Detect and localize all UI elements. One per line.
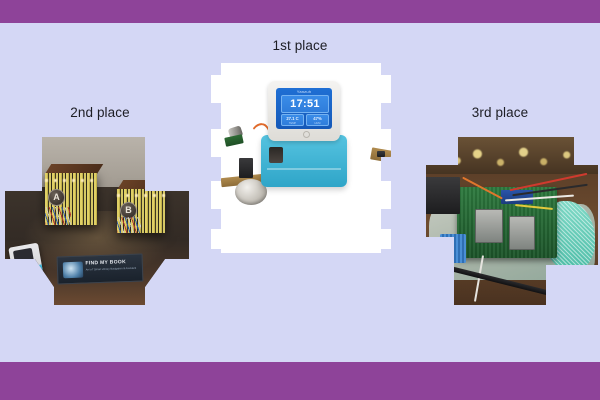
first-place-photo: Yanzuh 17:51 27.1 C TEMP 47% HUM (211, 63, 391, 253)
bottom-purple-band (0, 362, 600, 400)
second-place-label: 2nd place (0, 105, 200, 120)
clock-base (261, 135, 347, 187)
second-place-photo: A B (5, 137, 189, 305)
first-place-label: 1st place (200, 38, 400, 53)
clock-temperature-value: 27.1 C (282, 116, 303, 121)
clock-temperature-tile: 27.1 C TEMP (281, 114, 304, 126)
clock-humidity-tile: 47% HUM (306, 114, 329, 126)
clock-display: Yanzuh 17:51 27.1 C TEMP 47% HUM (276, 88, 332, 129)
iot-sensor-board-illustration (426, 137, 598, 305)
clock-temperature-caption: TEMP (282, 122, 303, 125)
top-purple-band (0, 0, 600, 23)
antenna-connector (550, 286, 571, 296)
display-module (426, 177, 460, 214)
clock-power-button-icon (303, 131, 310, 138)
clock-display-header: Yanzuh (276, 89, 332, 94)
dht-temperature-sensor (440, 234, 466, 263)
shelf-model-b: B (117, 189, 165, 233)
sensor-board-small (224, 134, 243, 147)
shelf-b-led-strip (117, 194, 165, 197)
entry-second-place: 2nd place A (0, 105, 200, 305)
esp-module-right (509, 216, 535, 250)
clock-base-slot (269, 147, 283, 163)
entry-third-place: 3rd place (400, 105, 600, 305)
sensor-bracket (239, 158, 253, 178)
project-sign-title: FIND MY BOOK (85, 259, 126, 266)
clock-base-seam (267, 168, 341, 170)
shelf-model-a: A (45, 173, 97, 225)
clock-humidity-caption: HUM (307, 122, 328, 125)
find-my-book-illustration: A B (5, 137, 189, 305)
clock-head: Yanzuh 17:51 27.1 C TEMP 47% HUM (268, 81, 340, 141)
tablet-device (8, 243, 43, 282)
esp-module-left (475, 209, 503, 243)
project-sign-logo-icon (63, 261, 84, 278)
project-sign-subtitle: An IoT Smart Library Navigation & Assist… (86, 266, 138, 271)
third-place-photo (426, 137, 598, 305)
clock-time-panel: 17:51 (281, 95, 329, 113)
shelf-a-badge: A (48, 189, 65, 206)
clock-time-value: 17:51 (282, 96, 328, 112)
clock-humidity-value: 47% (307, 116, 328, 121)
tablet-screen (13, 248, 35, 270)
smart-clock-illustration: Yanzuh 17:51 27.1 C TEMP 47% HUM (211, 63, 391, 253)
shelf-a-led-strip (45, 179, 97, 182)
entry-first-place: 1st place (200, 38, 400, 258)
shelf-a-wiring (45, 207, 71, 225)
right-edge-chip (377, 151, 385, 157)
shelf-b-wiring (117, 217, 141, 233)
tablet-base (12, 265, 44, 282)
presentation-slide: 1st place (0, 0, 600, 400)
third-place-label: 3rd place (400, 105, 600, 120)
scene-bokeh-lights (440, 142, 584, 176)
project-sign: FIND MY BOOK An IoT Smart Library Naviga… (57, 254, 144, 285)
